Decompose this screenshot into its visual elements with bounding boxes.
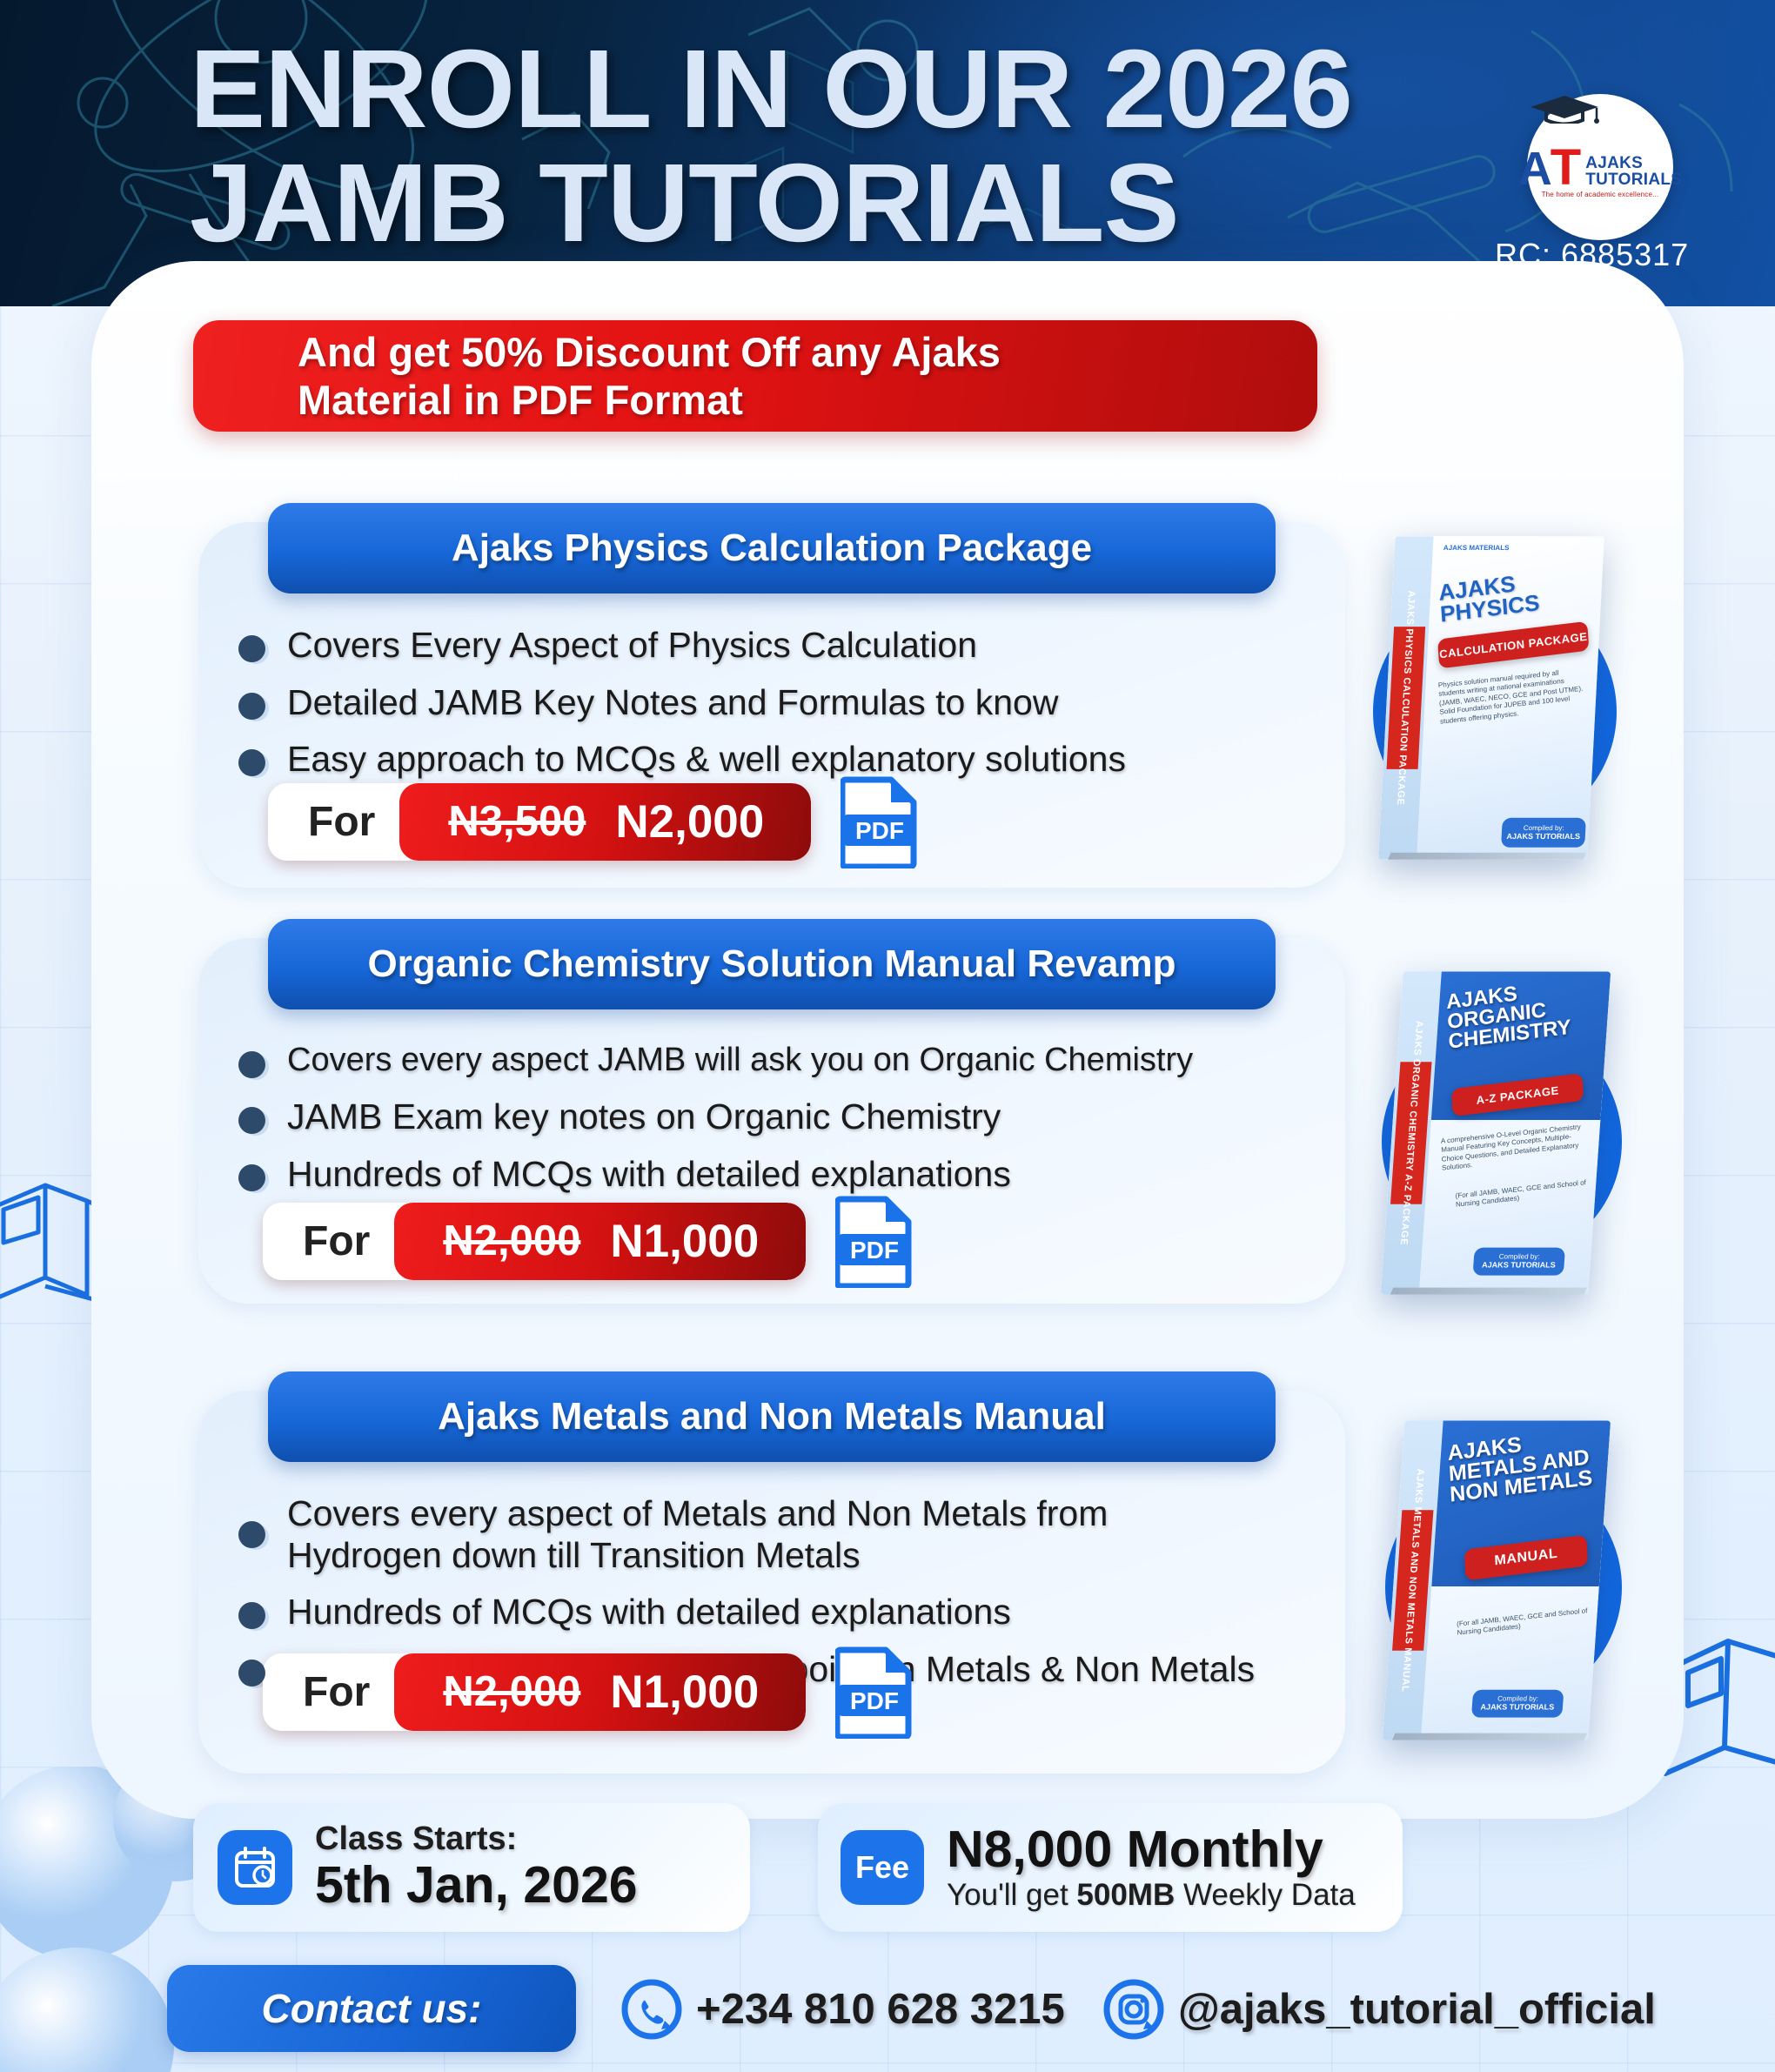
price-row-chemistry[interactable]: For N2,000 N1,000 PDF bbox=[263, 1194, 914, 1288]
bullet-item: Covers every aspect of Metals and Non Me… bbox=[238, 1493, 1326, 1576]
book-mockup-chemistry: AJAKS ORGANIC CHEMISTRY A-Z PACKAGE AJAK… bbox=[1347, 952, 1625, 1326]
book-compiled-by: AJAKS TUTORIALS bbox=[1482, 1261, 1556, 1270]
price-amounts: N2,000 N1,000 bbox=[394, 1653, 806, 1731]
book-band-text: A-Z PACKAGE bbox=[1476, 1083, 1559, 1106]
price-label: For bbox=[263, 1653, 401, 1731]
logo-tagline: The home of academic excellence... bbox=[1542, 191, 1659, 198]
bullet-dot-icon bbox=[238, 749, 268, 779]
book-compiled-badge: Compiled by: AJAKS TUTORIALS bbox=[1473, 1248, 1565, 1276]
bullet-item: Hundreds of MCQs with detailed explanati… bbox=[238, 1592, 1326, 1633]
bullet-dot-icon bbox=[238, 1602, 268, 1632]
bullet-text: JAMB Exam key notes on Organic Chemistry bbox=[287, 1096, 1001, 1138]
book-compiled-by: AJAKS TUTORIALS bbox=[1506, 832, 1580, 841]
bullet-text: Hundreds of MCQs with detailed explanati… bbox=[287, 1154, 1011, 1196]
price-amounts: N2,000 N1,000 bbox=[394, 1203, 806, 1280]
fee-sub-highlight: 500MB bbox=[1076, 1878, 1175, 1912]
book-band: CALCULATION PACKAGE bbox=[1437, 621, 1589, 669]
book-front: AJAKS ORGANIC CHEMISTRY A-Z PACKAGE A co… bbox=[1419, 971, 1611, 1294]
product-title-metals: Ajaks Metals and Non Metals Manual bbox=[268, 1371, 1276, 1462]
pdf-icon: PDF bbox=[835, 1194, 914, 1288]
price-old: N3,500 bbox=[448, 797, 586, 846]
logo-letter-t: T bbox=[1551, 148, 1581, 188]
bullet-item: Hundreds of MCQs with detailed explanati… bbox=[238, 1154, 1326, 1196]
calendar-icon bbox=[218, 1830, 292, 1905]
price-amounts: N3,500 N2,000 bbox=[399, 783, 811, 861]
title-line-1: ENROLL IN OUR 2026 bbox=[190, 33, 1450, 147]
book-spine-text: AJAKS ORGANIC CHEMISTRY A-Z PACKAGE bbox=[1398, 1021, 1424, 1245]
fee-badge-text: Fee bbox=[855, 1849, 909, 1886]
book-compiled-badge: Compiled by: AJAKS TUTORIALS bbox=[1501, 818, 1586, 848]
book-band-text: CALCULATION PACKAGE bbox=[1439, 629, 1588, 660]
price-pill[interactable]: For N2,000 N1,000 bbox=[263, 1203, 806, 1280]
product-title-chemistry: Organic Chemistry Solution Manual Revamp bbox=[268, 919, 1276, 1009]
book-band-text: MANUAL bbox=[1494, 1546, 1558, 1570]
svg-text:PDF: PDF bbox=[850, 1687, 899, 1714]
class-start-label: Class Starts: bbox=[315, 1821, 638, 1858]
book-audience: (For all JAMB, WAEC, GCE and School of N… bbox=[1457, 1606, 1590, 1638]
whatsapp-icon bbox=[620, 1977, 684, 2042]
logo-word-bottom: TUTORIALS bbox=[1585, 171, 1682, 188]
book-title: AJAKS PHYSICS bbox=[1438, 564, 1597, 626]
book-mockup-metals: AJAKS METALS AND NON METALS MANUAL AJAKS… bbox=[1347, 1405, 1625, 1770]
book-base bbox=[1387, 1733, 1587, 1740]
bullet-item: Detailed JAMB Key Notes and Formulas to … bbox=[238, 682, 1326, 724]
class-start-date: 5th Jan, 2026 bbox=[315, 1858, 638, 1914]
fee-badge: Fee bbox=[841, 1830, 924, 1905]
book-front: AJAKS MATERIALS AJAKS PHYSICS CALCULATIO… bbox=[1417, 536, 1604, 859]
fee-amount: N8,000 Monthly bbox=[947, 1822, 1356, 1878]
book-spine-label: AJAKS ORGANIC CHEMISTRY A-Z PACKAGE bbox=[1390, 1062, 1432, 1204]
bullet-dot-icon bbox=[238, 635, 268, 665]
contact-us-label: Contact us: bbox=[262, 1985, 482, 2032]
product-title-physics: Ajaks Physics Calculation Package bbox=[268, 503, 1276, 593]
logo-word-top: AJAKS bbox=[1585, 155, 1682, 171]
price-new: N2,000 bbox=[615, 795, 764, 848]
discount-prefix: And get bbox=[298, 329, 461, 375]
price-pill[interactable]: For N2,000 N1,000 bbox=[263, 1653, 806, 1731]
fee-sub-prefix: You'll get bbox=[947, 1878, 1076, 1912]
instagram-icon bbox=[1102, 1977, 1166, 2042]
price-old: N2,000 bbox=[443, 1217, 580, 1265]
instagram-handle: @ajaks_tutorial_official bbox=[1178, 1985, 1656, 2034]
price-row-metals[interactable]: For N2,000 N1,000 PDF bbox=[263, 1645, 914, 1739]
book-description: Physics solution manual required by all … bbox=[1438, 666, 1589, 726]
bullet-text: Covers every aspect JAMB will ask you on… bbox=[287, 1041, 1193, 1079]
book-body: AJAKS METALS AND NON METALS MANUAL AJAKS… bbox=[1383, 1420, 1611, 1740]
bullet-item: Covers Every Aspect of Physics Calculati… bbox=[238, 625, 1326, 667]
book-audience: (For all JAMB, WAEC, GCE and School of N… bbox=[1455, 1178, 1588, 1210]
price-new: N1,000 bbox=[610, 1215, 759, 1268]
book-compiled-by: AJAKS TUTORIALS bbox=[1480, 1703, 1554, 1712]
discount-text: And get 50% Discount Off any Ajaks Mater… bbox=[193, 328, 1027, 425]
fee-chip: Fee N8,000 Monthly You'll get 500MB Week… bbox=[818, 1803, 1403, 1932]
price-new: N1,000 bbox=[610, 1666, 759, 1719]
poster-title: ENROLL IN OUR 2026 JAMB TUTORIALS bbox=[190, 33, 1425, 260]
fee-text: N8,000 Monthly You'll get 500MB Weekly D… bbox=[947, 1822, 1356, 1913]
product-title-text: Ajaks Physics Calculation Package bbox=[452, 526, 1092, 570]
book-compiled-badge: Compiled by: AJAKS TUTORIALS bbox=[1471, 1690, 1564, 1718]
logo-letter-a: A bbox=[1518, 151, 1552, 188]
book-mockup-physics: AJAKS PHYSICS CALCULATION PACKAGE AJAKS … bbox=[1347, 520, 1625, 886]
discount-banner: And get 50% Discount Off any Ajaks Mater… bbox=[193, 320, 1317, 432]
price-label: For bbox=[268, 783, 406, 861]
pdf-icon: PDF bbox=[835, 1645, 914, 1739]
fee-subtext: You'll get 500MB Weekly Data bbox=[947, 1878, 1356, 1913]
discount-line2: Material in PDF Format bbox=[298, 377, 743, 423]
pdf-icon: PDF bbox=[841, 774, 919, 868]
svg-text:PDF: PDF bbox=[850, 1237, 899, 1264]
whatsapp-contact[interactable]: +234 810 628 3215 bbox=[620, 1977, 1065, 2042]
product-title-text: Organic Chemistry Solution Manual Revamp bbox=[367, 942, 1176, 986]
bullet-dot-icon bbox=[238, 1107, 268, 1137]
title-line-2: JAMB TUTORIALS bbox=[190, 147, 1450, 261]
price-label: For bbox=[263, 1203, 401, 1280]
bullet-dot-icon bbox=[238, 1164, 268, 1194]
book-base bbox=[1385, 1288, 1587, 1295]
book-spine-text: AJAKS PHYSICS CALCULATION PACKAGE bbox=[1395, 590, 1417, 805]
book-base bbox=[1383, 853, 1585, 860]
bullet-text: Covers Every Aspect of Physics Calculati… bbox=[287, 625, 977, 667]
book-compiled-label: Compiled by: bbox=[1497, 1695, 1538, 1703]
bullet-dot-icon bbox=[238, 1521, 268, 1551]
book-spine-label: AJAKS METALS AND NON METALS MANUAL bbox=[1392, 1510, 1433, 1651]
whatsapp-number: +234 810 628 3215 bbox=[696, 1985, 1065, 2034]
bullet-text: Covers every aspect of Metals and Non Me… bbox=[287, 1493, 1262, 1576]
bullet-dot-icon bbox=[238, 1051, 268, 1081]
product-bullets-physics: Covers Every Aspect of Physics Calculati… bbox=[238, 625, 1326, 796]
price-old: N2,000 bbox=[443, 1667, 580, 1716]
brand-logo: A T AJAKS TUTORIALS The home of academic… bbox=[1527, 94, 1673, 240]
class-start-chip: Class Starts: 5th Jan, 2026 bbox=[193, 1803, 750, 1932]
product-bullets-chemistry: Covers every aspect JAMB will ask you on… bbox=[238, 1041, 1326, 1210]
graduation-cap-icon bbox=[1527, 94, 1602, 124]
contact-us-pill[interactable]: Contact us: bbox=[167, 1965, 576, 2052]
book-spine-text: AJAKS METALS AND NON METALS MANUAL bbox=[1400, 1469, 1426, 1693]
bullet-item: JAMB Exam key notes on Organic Chemistry bbox=[238, 1096, 1326, 1138]
book-brand: AJAKS MATERIALS bbox=[1443, 545, 1510, 552]
product-title-text: Ajaks Metals and Non Metals Manual bbox=[438, 1395, 1106, 1438]
book-front: AJAKS METALS AND NON METALS MANUAL (For … bbox=[1421, 1420, 1611, 1740]
bullet-dot-icon bbox=[238, 693, 268, 722]
discount-highlight: 50% bbox=[461, 329, 543, 375]
book-compiled-label: Compiled by: bbox=[1498, 1253, 1539, 1261]
bullet-text: Detailed JAMB Key Notes and Formulas to … bbox=[287, 682, 1058, 724]
book-description: A comprehensive O-Level Organic Chemistr… bbox=[1441, 1122, 1591, 1173]
discount-suffix: Discount Off any Ajaks bbox=[543, 329, 1001, 375]
poster-canvas: ENROLL IN OUR 2026 JAMB TUTORIALS A T AJ… bbox=[0, 0, 1775, 2072]
svg-text:PDF: PDF bbox=[855, 817, 904, 844]
instagram-contact[interactable]: @ajaks_tutorial_official bbox=[1102, 1977, 1656, 2042]
bullet-item: Covers every aspect JAMB will ask you on… bbox=[238, 1041, 1326, 1081]
book-spine-label: AJAKS PHYSICS CALCULATION PACKAGE bbox=[1387, 627, 1426, 768]
bullet-text: Hundreds of MCQs with detailed explanati… bbox=[287, 1592, 1011, 1633]
book-body: AJAKS PHYSICS CALCULATION PACKAGE AJAKS … bbox=[1378, 536, 1604, 859]
price-pill[interactable]: For N3,500 N2,000 bbox=[268, 783, 811, 861]
fee-sub-suffix: Weekly Data bbox=[1175, 1878, 1356, 1912]
book-body: AJAKS ORGANIC CHEMISTRY A-Z PACKAGE AJAK… bbox=[1381, 971, 1611, 1294]
book-compiled-label: Compiled by: bbox=[1524, 824, 1564, 832]
class-start-text: Class Starts: 5th Jan, 2026 bbox=[315, 1821, 638, 1914]
price-row-physics[interactable]: For N3,500 N2,000 PDF bbox=[268, 774, 919, 868]
